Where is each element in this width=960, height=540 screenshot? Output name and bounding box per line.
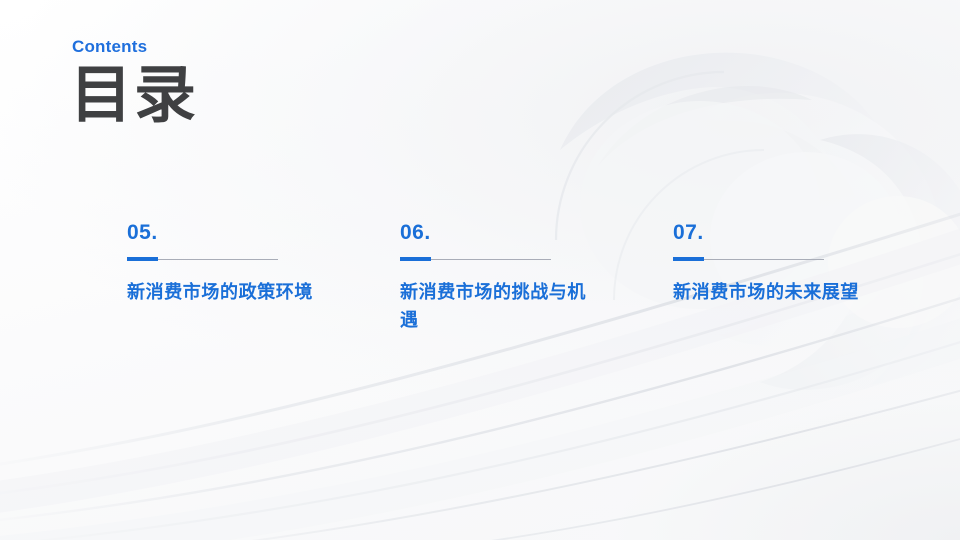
sweep-line-6 xyxy=(300,428,960,540)
entry-divider xyxy=(127,257,278,261)
eyebrow-label: Contents xyxy=(72,38,198,55)
sweep-band-2 xyxy=(0,312,960,540)
petal-shape-4 xyxy=(598,86,812,166)
divider-accent-segment xyxy=(673,257,704,261)
slide-canvas: Contents 目录 05. 新消费市场的政策环境 06. 新消费市场的挑战与… xyxy=(0,0,960,540)
entry-label[interactable]: 新消费市场的挑战与机遇 xyxy=(400,279,596,335)
entry-divider xyxy=(673,257,824,261)
entry-divider xyxy=(400,257,551,261)
divider-accent-segment xyxy=(400,257,431,261)
entry-number: 05. xyxy=(127,222,337,243)
arc-outline-1 xyxy=(556,72,724,240)
entry-number: 06. xyxy=(400,222,610,243)
sweep-line-4 xyxy=(0,336,960,540)
divider-accent-segment xyxy=(127,257,158,261)
contents-entry-06[interactable]: 06. 新消费市场的挑战与机遇 xyxy=(400,222,610,335)
entry-number: 07. xyxy=(673,222,883,243)
page-title: 目录 xyxy=(70,64,198,127)
entry-label[interactable]: 新消费市场的政策环境 xyxy=(127,279,323,307)
contents-entry-05[interactable]: 05. 新消费市场的政策环境 xyxy=(127,222,337,335)
entry-label[interactable]: 新消费市场的未来展望 xyxy=(673,279,869,307)
contents-columns: 05. 新消费市场的政策环境 06. 新消费市场的挑战与机遇 07. 新消费市场… xyxy=(127,222,917,335)
sweep-line-5 xyxy=(120,380,960,540)
contents-entry-07[interactable]: 07. 新消费市场的未来展望 xyxy=(673,222,883,335)
slide-header: Contents 目录 xyxy=(70,38,198,127)
